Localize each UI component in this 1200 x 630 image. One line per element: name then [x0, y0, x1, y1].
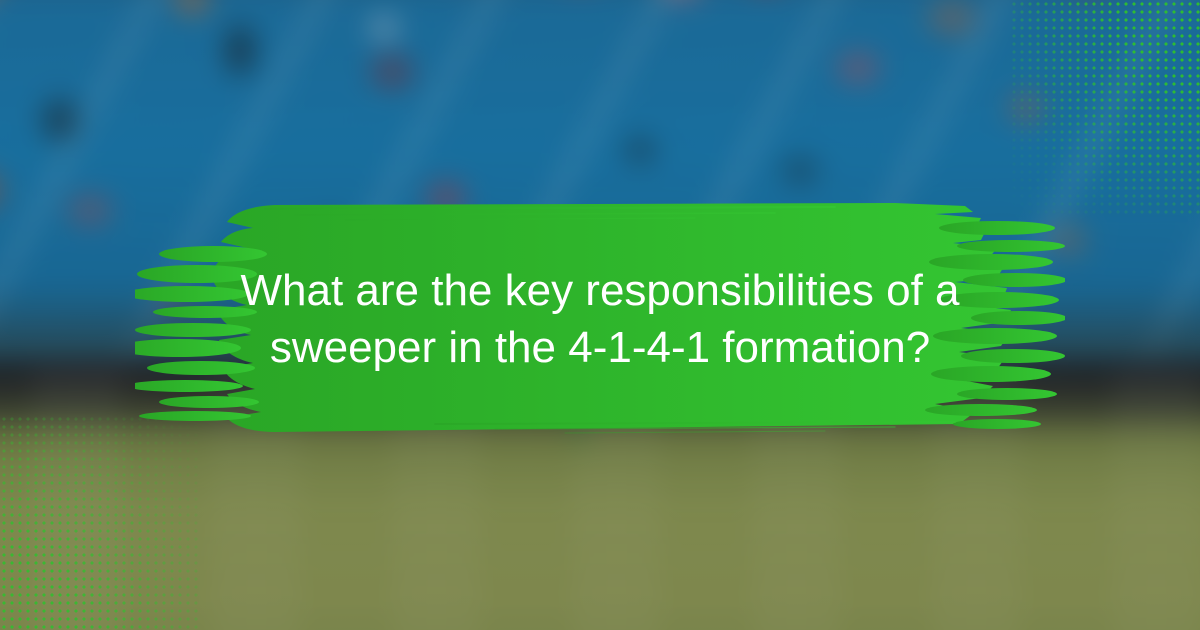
social-share-card: What are the key responsibilities of a s…	[0, 0, 1200, 630]
page-title: What are the key responsibilities of a s…	[210, 262, 990, 376]
